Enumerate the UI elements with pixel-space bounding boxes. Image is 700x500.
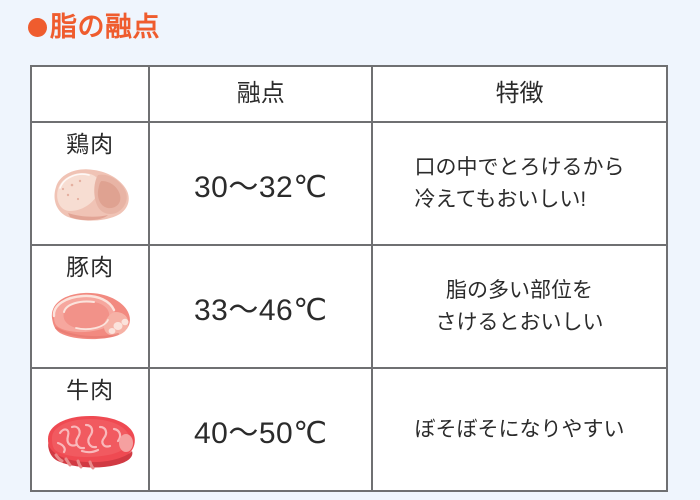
feature-line: 口の中でとろけるから: [415, 152, 625, 184]
header-cell-temperature: 融点: [149, 66, 372, 122]
cell-meat-name-beef: 牛肉: [31, 368, 149, 491]
melting-point-table-container: 融点 特徴 鶏肉: [30, 65, 668, 492]
meat-name-label: 牛肉: [66, 378, 114, 403]
page-title: 脂の融点: [28, 14, 160, 41]
chicken-meat-illustration: [38, 159, 142, 225]
cell-temperature-pork: 33〜46℃: [149, 245, 372, 368]
meat-name-label: 鶏肉: [66, 132, 114, 157]
cell-feature-pork: 脂の多い部位を さけるとおいしい: [372, 245, 667, 368]
melting-point-table: 融点 特徴 鶏肉: [30, 65, 668, 492]
pork-chop-illustration: [38, 282, 142, 348]
bullet-icon: [28, 18, 47, 37]
cell-temperature-chicken: 30〜32℃: [149, 122, 372, 245]
table-row: 豚肉: [31, 245, 667, 368]
meat-name-label: 豚肉: [66, 255, 114, 280]
page-title-text: 脂の融点: [50, 14, 160, 41]
table-header-row: 融点 特徴: [31, 66, 667, 122]
cell-meat-name-chicken: 鶏肉: [31, 122, 149, 245]
table-row: 牛肉: [31, 368, 667, 491]
header-cell-feature: 特徴: [372, 66, 667, 122]
feature-line: 脂の多い部位を: [436, 275, 604, 307]
feature-line: さけるとおいしい: [436, 307, 604, 339]
header-cell-blank: [31, 66, 149, 122]
cell-meat-name-pork: 豚肉: [31, 245, 149, 368]
feature-line: ぼそぼそになりやすい: [415, 414, 625, 446]
beef-steak-illustration: [38, 403, 142, 477]
table-row: 鶏肉: [31, 122, 667, 245]
cell-temperature-beef: 40〜50℃: [149, 368, 372, 491]
cell-feature-chicken: 口の中でとろけるから 冷えてもおいしい!: [372, 122, 667, 245]
cell-feature-beef: ぼそぼそになりやすい: [372, 368, 667, 491]
feature-line: 冷えてもおいしい!: [415, 184, 625, 216]
